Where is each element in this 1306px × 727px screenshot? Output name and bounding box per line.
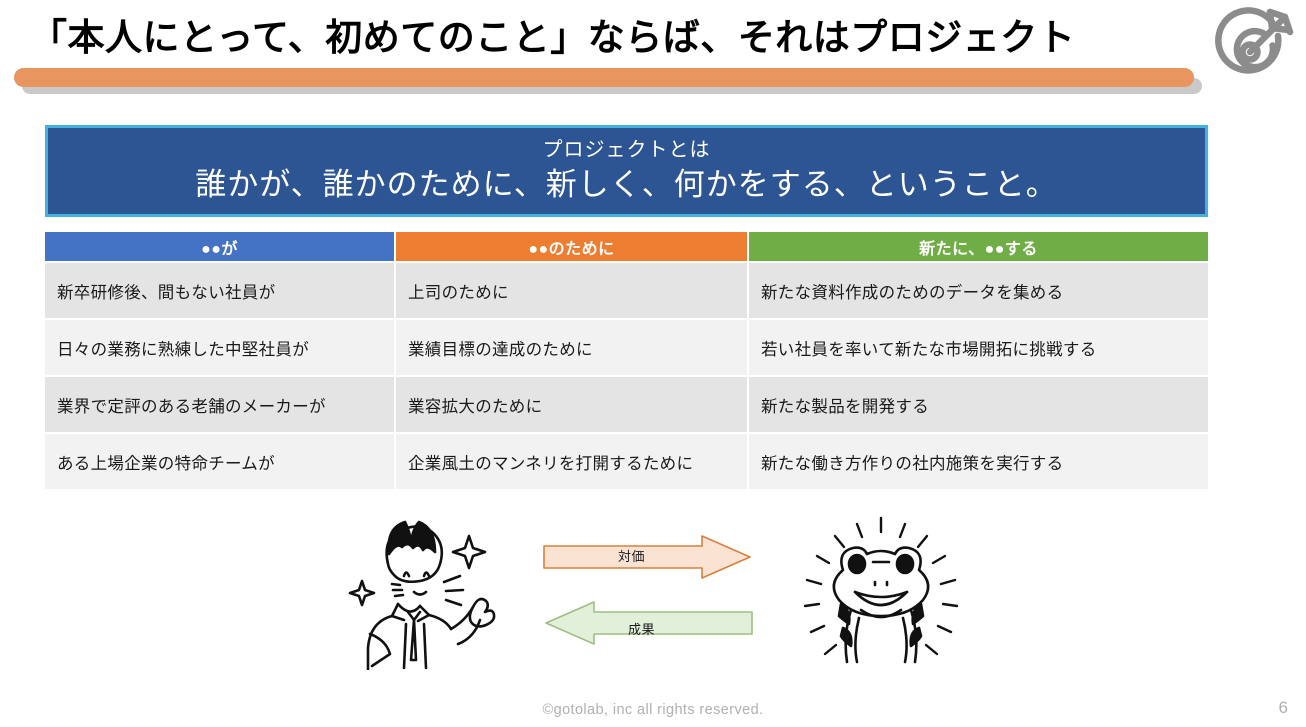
businessman-illustration — [332, 512, 510, 670]
cell-who: 日々の業務に熟練した中堅社員が — [45, 320, 394, 375]
cell-what: 新たな製品を開発する — [749, 377, 1208, 432]
cell-who: 新卒研修後、間もない社員が — [45, 263, 394, 318]
table-row: ある上場企業の特命チームが 企業風土のマンネリを打開するために 新たな働き方作り… — [45, 434, 1208, 489]
cell-for-whom: 業績目標の達成のために — [396, 320, 747, 375]
copyright-footer: ©gotolab, inc all rights reserved. — [0, 702, 1306, 718]
page-title: 「本人にとって、初めてのこと」ならば、それはプロジェクト — [30, 10, 1190, 66]
frog-illustration — [795, 512, 967, 670]
table-row: 新卒研修後、間もない社員が 上司のために 新たな資料作成のためのデータを集める — [45, 263, 1208, 318]
definition-heading: プロジェクトとは — [543, 137, 711, 163]
arrow-label-result: 成果 — [628, 619, 655, 638]
cell-who: 業界で定評のある老舗のメーカーが — [45, 377, 394, 432]
definition-box: プロジェクトとは 誰かが、誰かのために、新しく、何かをする、ということ。 — [45, 125, 1208, 217]
column-header-who: ●●が — [45, 232, 394, 261]
cell-for-whom: 企業風土のマンネリを打開するために — [396, 434, 747, 489]
project-examples-table: ●●が ●●のために 新たに、●●する 新卒研修後、間もない社員が 上司のために… — [45, 232, 1208, 489]
title-underline-bar — [14, 68, 1194, 87]
table-header-row: ●●が ●●のために 新たに、●●する — [45, 232, 1208, 261]
cell-for-whom: 上司のために — [396, 263, 747, 318]
table-row: 日々の業務に熟練した中堅社員が 業績目標の達成のために 若い社員を率いて新たな市… — [45, 320, 1208, 375]
column-header-for-whom: ●●のために — [396, 232, 747, 261]
cell-what: 新たな資料作成のためのデータを集める — [749, 263, 1208, 318]
cell-what: 新たな働き方作りの社内施策を実行する — [749, 434, 1208, 489]
table-row: 業界で定評のある老舗のメーカーが 業容拡大のために 新たな製品を開発する — [45, 377, 1208, 432]
arrow-label-compensation: 対価 — [618, 546, 645, 565]
column-header-what: 新たに、●●する — [749, 232, 1208, 261]
definition-statement: 誰かが、誰かのために、新しく、何かをする、ということ。 — [195, 164, 1057, 206]
exchange-arrows: 対価 成果 — [542, 534, 754, 646]
cell-who: ある上場企業の特命チームが — [45, 434, 394, 489]
target-arrow-icon — [1202, 2, 1298, 92]
cell-what: 若い社員を率いて新たな市場開拓に挑戦する — [749, 320, 1208, 375]
page-number: 6 — [1279, 698, 1288, 718]
cell-for-whom: 業容拡大のために — [396, 377, 747, 432]
